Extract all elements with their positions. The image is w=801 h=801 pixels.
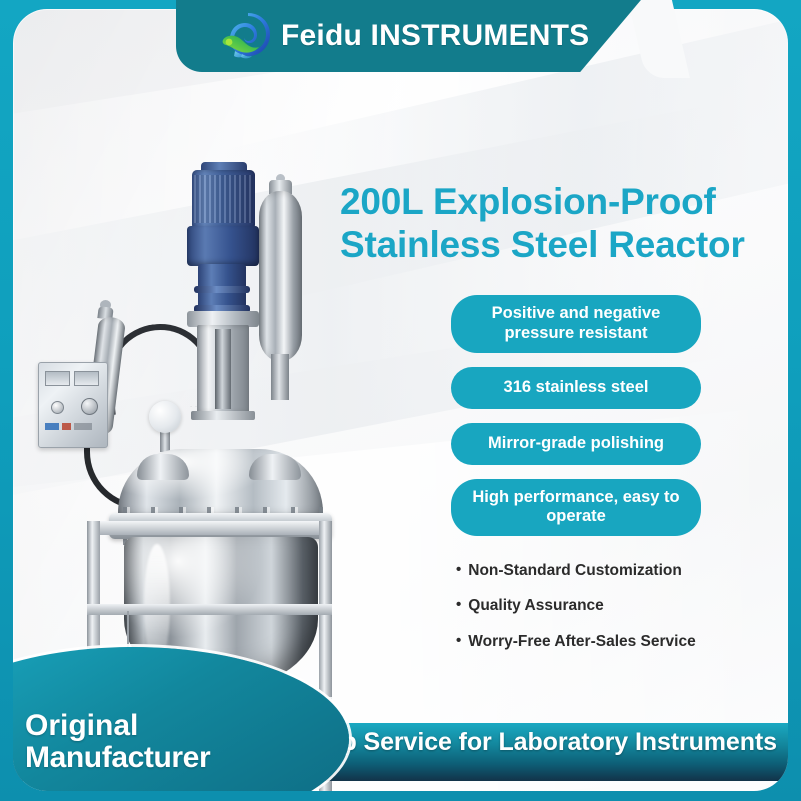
sight-glass xyxy=(149,401,181,433)
control-display-right xyxy=(74,371,99,386)
header-brand-inner: Feidu INSTRUMENTS xyxy=(176,10,589,62)
stand-middle-rail xyxy=(87,604,332,615)
lid-port-left xyxy=(137,454,189,480)
header-brand-badge: Feidu INSTRUMENTS xyxy=(176,0,646,72)
gearbox xyxy=(187,226,259,266)
lid-port-right xyxy=(249,454,301,480)
poster-content-panel: 200L Explosion-Proof Stainless Steel Rea… xyxy=(13,9,788,791)
product-title-line1: 200L Explosion-Proof xyxy=(340,181,788,224)
list-item-label: Worry-Free After-Sales Service xyxy=(468,632,695,651)
agitator-shaft xyxy=(215,329,231,409)
control-display-left xyxy=(45,371,70,386)
swirl-logo-icon xyxy=(218,10,270,62)
feature-pill: 316 stainless steel xyxy=(451,367,701,409)
bullet-dot-icon: • xyxy=(456,632,461,650)
list-item-label: Non-Standard Customization xyxy=(468,561,682,580)
list-item: • Quality Assurance xyxy=(456,596,766,615)
condenser-column xyxy=(259,191,302,361)
sight-glass-stem xyxy=(160,430,170,452)
shaft-flange xyxy=(191,411,255,420)
list-item-label: Quality Assurance xyxy=(468,596,604,615)
footer-badge-line1: Original xyxy=(25,710,255,742)
list-item: • Non-Standard Customization xyxy=(456,561,766,580)
control-knob-small xyxy=(51,401,64,414)
bullet-dot-icon: • xyxy=(456,561,461,579)
feature-pill: Mirror-grade polishing xyxy=(451,423,701,465)
footer-badge-line2: Manufacturer xyxy=(25,742,255,774)
feature-pill-list: Positive and negative pressure resistant… xyxy=(451,295,701,550)
feature-pill: Positive and negative pressure resistant xyxy=(451,295,701,353)
control-label-gray xyxy=(74,423,92,430)
product-image xyxy=(31,149,381,729)
original-manufacturer-text: Original Manufacturer xyxy=(25,710,255,773)
product-title: 200L Explosion-Proof Stainless Steel Rea… xyxy=(340,181,788,267)
feature-pill: High performance, easy to operate xyxy=(451,479,701,537)
condenser-connector xyxy=(271,354,289,400)
brand-name: Feidu INSTRUMENTS xyxy=(281,19,589,53)
service-bullet-list: • Non-Standard Customization • Quality A… xyxy=(456,561,766,667)
stand-top-rail xyxy=(87,521,332,535)
list-item: • Worry-Free After-Sales Service xyxy=(456,632,766,651)
gearbox-ring-upper xyxy=(194,286,250,293)
motor-cooling-fins xyxy=(194,175,253,223)
control-label-red xyxy=(62,423,71,430)
control-knob-large xyxy=(81,398,98,415)
product-title-line2: Stainless Steel Reactor xyxy=(340,224,788,267)
bullet-dot-icon: • xyxy=(456,596,461,614)
control-label-blue xyxy=(45,423,59,430)
product-advertisement-poster: 200L Explosion-Proof Stainless Steel Rea… xyxy=(0,0,801,801)
